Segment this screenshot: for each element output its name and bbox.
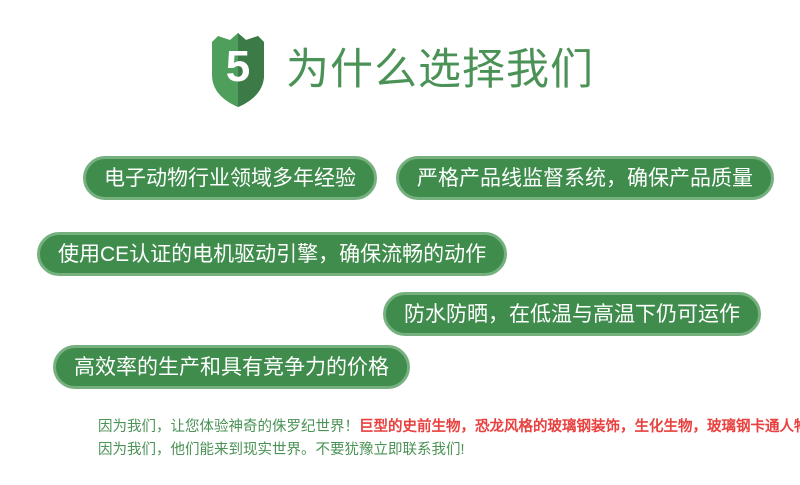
feature-pill-ce-motor: 使用CE认证的电机驱动引擎，确保流畅的动作 [37,232,507,276]
footer-paragraph: 因为我们，让您体验神奇的侏罗纪世界！巨型的史前生物，恐龙风格的玻璃钢装饰，生化生… [98,416,798,462]
footer-highlight: 巨型的史前生物，恐龙风格的玻璃钢装饰，生化生物，玻璃钢卡通人物 [359,419,800,435]
footer-line-1: 因为我们，让您体验神奇的侏罗纪世界！巨型的史前生物，恐龙风格的玻璃钢装饰，生化生… [98,416,798,439]
footer-line-1-text: 因为我们，让您体验神奇的侏罗纪世界！ [98,419,359,435]
badge-number: 5 [206,31,270,109]
shield-badge: 5 [206,31,270,109]
footer-line-2: 因为我们，他们能来到现实世界。不要犹豫立即联系我们! [98,439,798,462]
page-header: 5 为什么选择我们 [0,24,800,116]
promo-page: 5 为什么选择我们 电子动物行业领域多年经验 严格产品线监督系统，确保产品质量 … [0,0,800,485]
feature-pill-experience: 电子动物行业领域多年经验 [83,156,377,200]
feature-pill-quality: 严格产品线监督系统，确保产品质量 [396,156,774,200]
feature-pill-weatherproof: 防水防晒，在低温与高温下仍可运作 [383,292,761,336]
page-title: 为什么选择我们 [286,49,594,92]
feature-pill-price: 高效率的生产和具有竞争力的价格 [53,345,410,389]
